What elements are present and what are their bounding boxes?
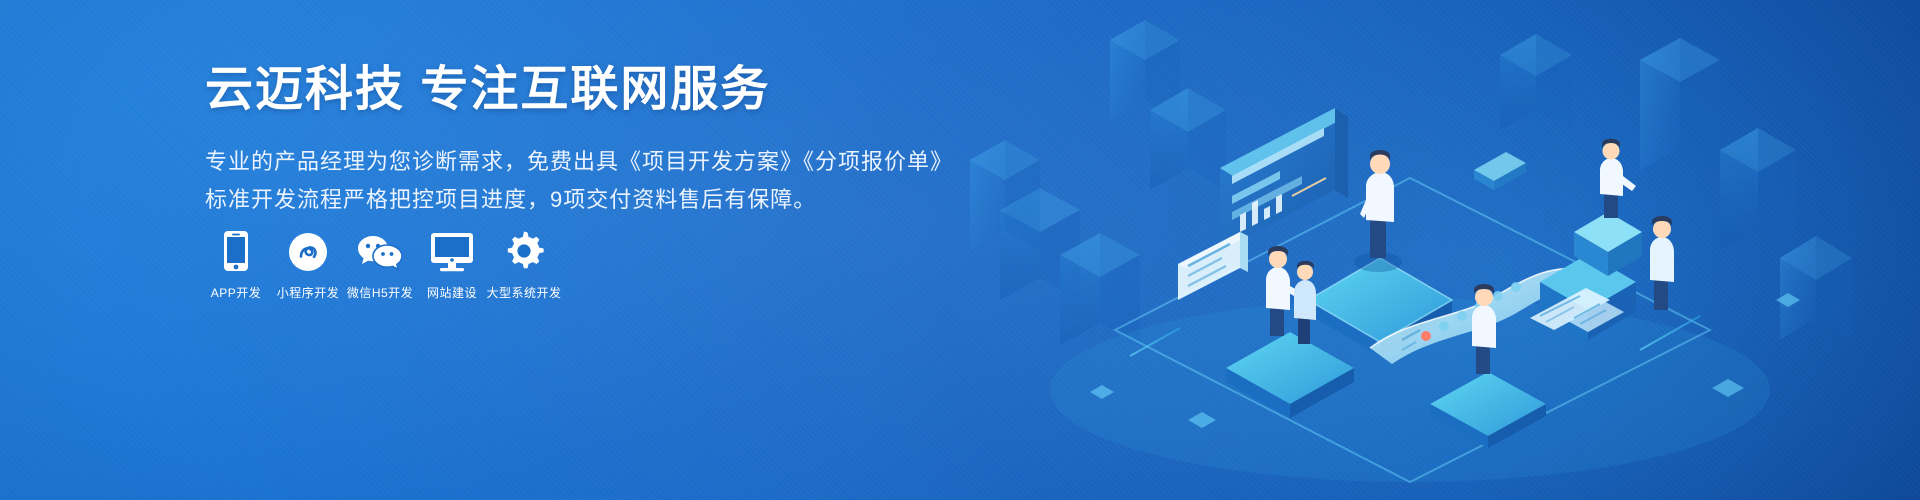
mini-program-icon	[288, 228, 328, 272]
banner-content: 云迈科技 专注互联网服务 专业的产品经理为您诊断需求，免费出具《项目开发方案》《…	[205, 62, 925, 216]
service-item-app[interactable]: APP开发	[200, 228, 272, 301]
service-label: 大型系统开发	[487, 284, 562, 301]
service-label: 微信H5开发	[347, 284, 413, 301]
gear-icon	[503, 228, 545, 272]
service-item-wechat-h5[interactable]: 微信H5开发	[344, 228, 416, 301]
page-title: 云迈科技 专注互联网服务	[205, 62, 925, 119]
wechat-icon	[357, 228, 403, 272]
service-item-large-system[interactable]: 大型系统开发	[488, 228, 560, 301]
service-item-website[interactable]: 网站建设	[416, 228, 488, 301]
monitor-icon	[430, 228, 474, 272]
isometric-illustration	[940, 0, 1920, 500]
subtitle-line-1: 专业的产品经理为您诊断需求，免费出具《项目开发方案》《分项报价单》	[205, 145, 925, 178]
service-item-miniprogram[interactable]: 小程序开发	[272, 228, 344, 301]
promo-banner: 云迈科技 专注互联网服务 专业的产品经理为您诊断需求，免费出具《项目开发方案》《…	[0, 0, 1920, 500]
mobile-phone-icon	[223, 228, 249, 272]
service-label: 小程序开发	[277, 284, 340, 301]
service-label: APP开发	[211, 284, 262, 301]
service-label: 网站建设	[427, 284, 477, 301]
subtitle-line-2: 标准开发流程严格把控项目进度，9项交付资料售后有保障。	[205, 183, 925, 216]
service-list: APP开发 小程序开发 微信	[200, 228, 560, 301]
